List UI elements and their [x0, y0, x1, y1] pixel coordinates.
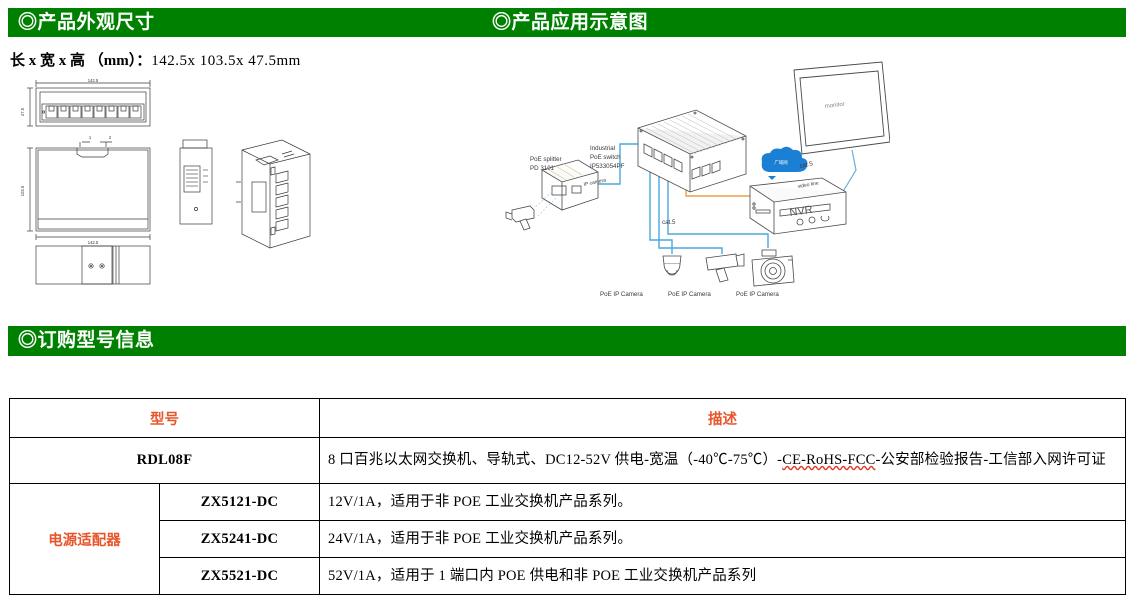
table-row: RDL08F 8 口百兆以太网交换机、导轨式、DC12-52V 供电-宽温（-4… [10, 438, 1126, 484]
cell-description: 12V/1A，适用于非 POE 工业交换机产品系列。 [320, 484, 1126, 521]
label-front-width: 142.5 [88, 78, 99, 83]
cell-model: ZX5241-DC [160, 521, 320, 558]
cell-model: ZX5521-DC [160, 558, 320, 595]
dimension-label: 长 x 宽 x 高 （mm）： [10, 53, 151, 69]
label-splitter-line2: PD 3101 [530, 165, 555, 172]
label-switch-line2: PoE switch [590, 154, 621, 161]
section-title-application: ◎产品应用示意图 [492, 8, 648, 37]
header-model: 型号 [10, 399, 320, 438]
label-mark-1: 1 [89, 135, 92, 140]
label-top-width: 142.5 [88, 240, 99, 245]
table-row: ZX5521-DC 52V/1A，适用于 1 端口内 POE 供电和非 POE … [10, 558, 1126, 595]
ordering-table: 型号 描述 RDL08F 8 口百兆以太网交换机、导轨式、DC12-52V 供电… [9, 398, 1126, 595]
cell-model: ZX5121-DC [160, 484, 320, 521]
cell-description: 8 口百兆以太网交换机、导轨式、DC12-52V 供电-宽温（-40℃-75℃）… [320, 438, 1126, 484]
label-cat5-right: cat.5 [799, 160, 814, 170]
label-splitter-line1: PoE splitter [530, 156, 562, 163]
section-bar-ordering: ◎订购型号信息 [8, 326, 1126, 356]
product-spec-page: ◎产品外观尺寸 ◎产品应用示意图 长 x 宽 x 高 （mm）：142.5x 1… [0, 0, 1137, 603]
label-switch-line3: IP533054PF [590, 163, 625, 170]
table-row: ZX5241-DC 24V/1A，适用于非 POE 工业交换机产品系列。 [10, 521, 1126, 558]
label-cloud: 广域网 [774, 159, 788, 166]
label-camera-1: PoE IP Camera [600, 291, 643, 298]
desc-part-post: -公安部检验报告-工信部入网许可证 [875, 452, 1106, 468]
section-title-ordering: ◎订购型号信息 [18, 326, 155, 356]
desc-part-pre: 8 口百兆以太网交换机、导轨式、DC12-52V 供电-宽温（-40℃-75℃）… [328, 452, 782, 468]
label-mark-2: 2 [109, 135, 112, 140]
desc-part-spellchecked: CE-RoHS-FCC [782, 452, 875, 468]
label-camera-3: PoE IP Camera [736, 291, 779, 298]
label-front-height: 47.5 [20, 107, 25, 116]
cell-group-power-adapter: 电源适配器 [10, 484, 160, 595]
application-diagram: PoE splitter PD 3101 IP camera Industria… [500, 58, 890, 303]
header-description: 描述 [320, 399, 1126, 438]
technical-drawing: 142.5 47.5 103.5 142.5 1 2 [20, 78, 330, 290]
dimension-line: 长 x 宽 x 高 （mm）：142.5x 103.5x 47.5mm [10, 49, 301, 70]
label-switch-line1: Industrial [590, 145, 615, 152]
section-title-dimensions: ◎产品外观尺寸 [18, 8, 155, 37]
cell-description: 24V/1A，适用于非 POE 工业交换机产品系列。 [320, 521, 1126, 558]
label-cat5-mid: cat.5 [662, 219, 676, 226]
table-header-row: 型号 描述 [10, 399, 1126, 438]
table-row: 电源适配器 ZX5121-DC 12V/1A，适用于非 POE 工业交换机产品系… [10, 484, 1126, 521]
label-top-height: 103.5 [20, 185, 25, 196]
section-bar-top: ◎产品外观尺寸 ◎产品应用示意图 [8, 8, 1126, 37]
label-camera-2: PoE IP Camera [668, 291, 711, 298]
cell-description: 52V/1A，适用于 1 端口内 POE 供电和非 POE 工业交换机产品系列 [320, 558, 1126, 595]
dimension-value: 142.5x 103.5x 47.5mm [151, 53, 301, 69]
cell-model: RDL08F [10, 438, 320, 484]
